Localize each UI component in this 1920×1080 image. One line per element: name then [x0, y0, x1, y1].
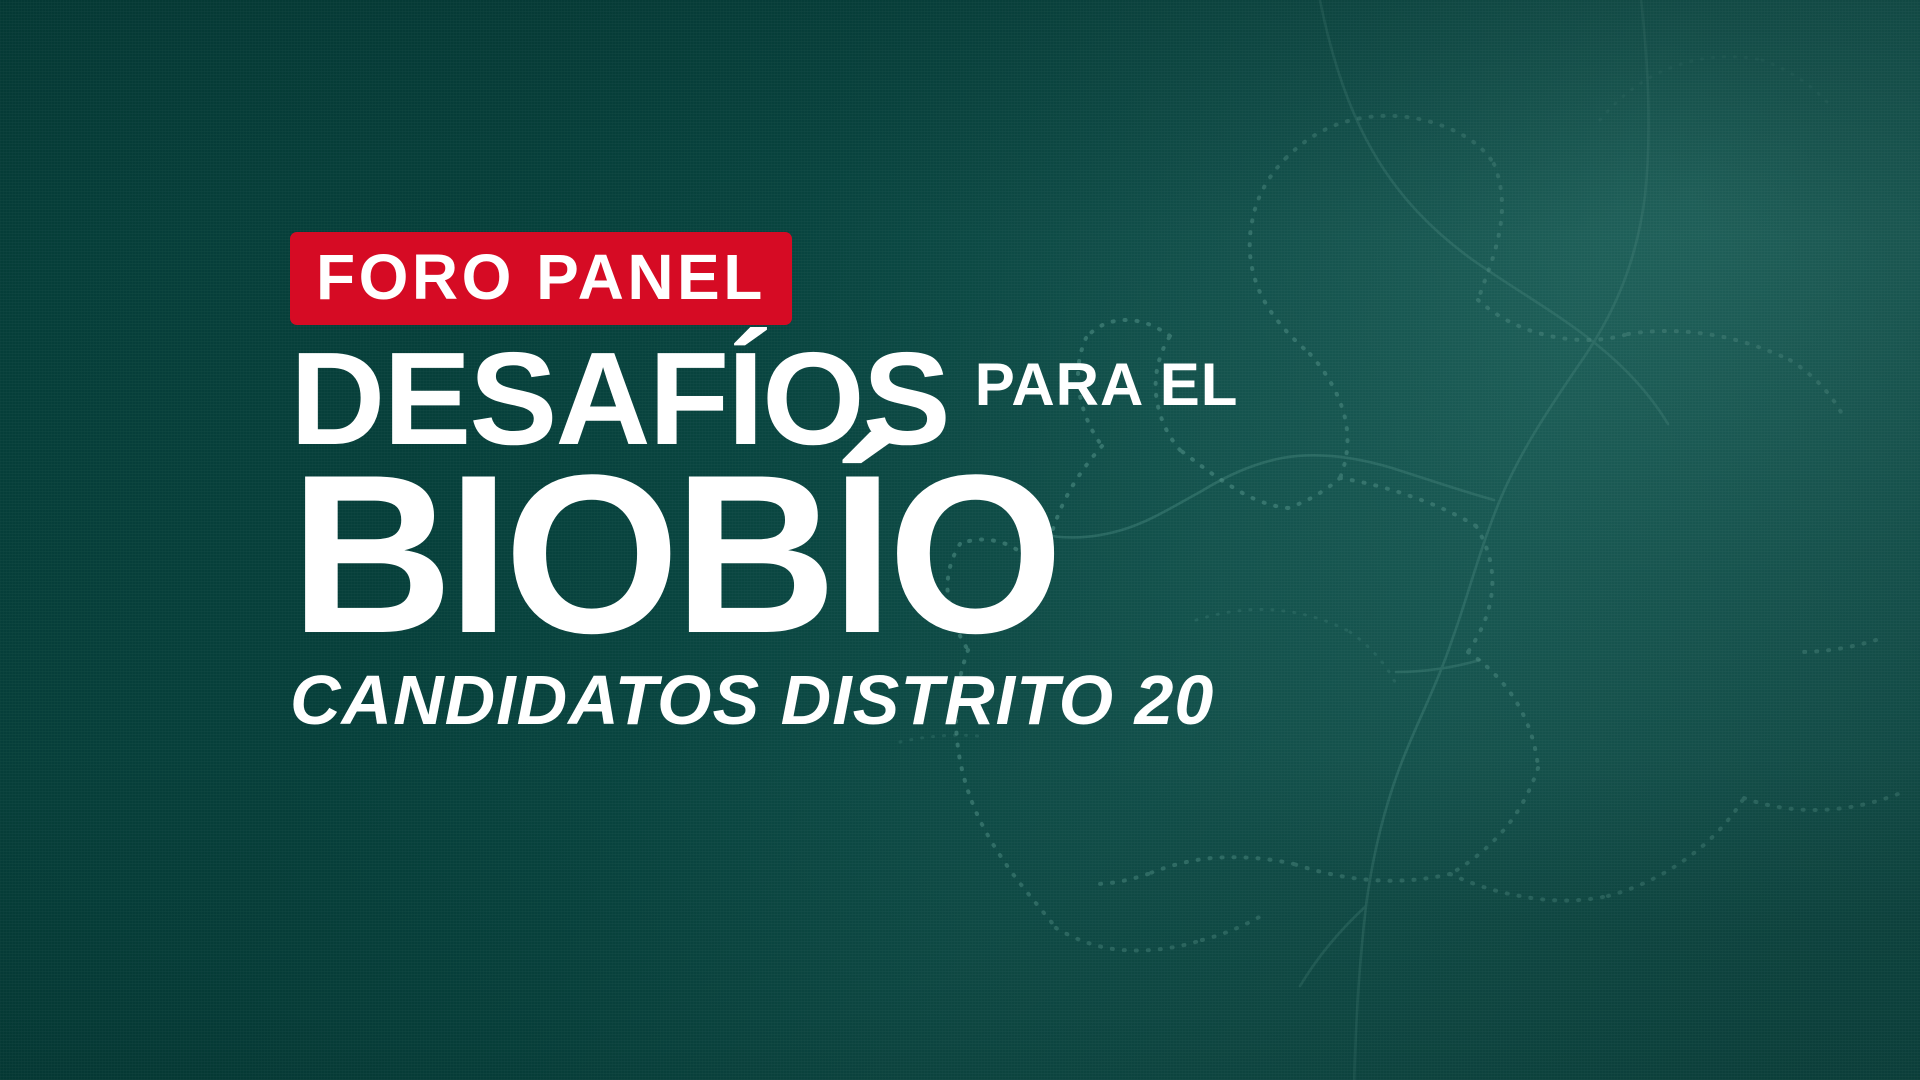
poster-canvas: FORO PANEL DESAFÍOS PARA EL BIOBÍO CANDI…	[0, 0, 1920, 1080]
poster-text-block: FORO PANEL DESAFÍOS PARA EL BIOBÍO CANDI…	[290, 232, 1850, 735]
headline-region: BIOBÍO	[290, 459, 1850, 649]
foro-panel-badge: FORO PANEL	[290, 232, 792, 325]
poster-subtitle: CANDIDATOS DISTRITO 20	[290, 665, 1850, 735]
headline-kicker: PARA EL	[975, 355, 1239, 415]
